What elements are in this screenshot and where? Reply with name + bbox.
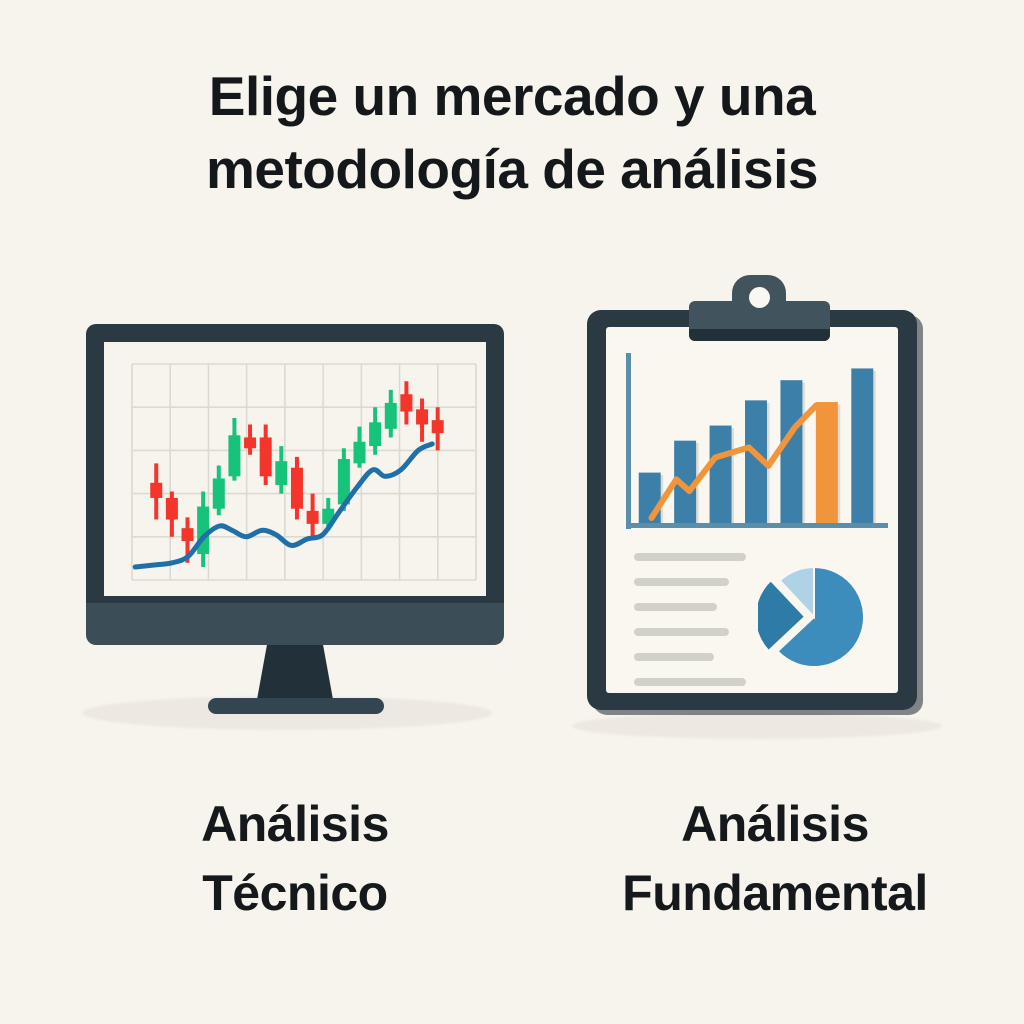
pie-chart xyxy=(758,553,878,673)
monitor-chin-bar xyxy=(86,603,504,645)
panel-technical-analysis[interactable] xyxy=(60,300,530,760)
paper-text-line xyxy=(634,603,717,611)
paper-text-line xyxy=(634,678,746,686)
clipboard-clamp-lip xyxy=(689,329,830,341)
clipboard-ground-shadow xyxy=(572,713,942,739)
paper-text-line xyxy=(634,628,729,636)
page-title-line-2: metodología de análisis xyxy=(110,133,914,206)
page-title-line-1: Elige un mercado y una xyxy=(110,60,914,133)
clipboard-paper[interactable] xyxy=(606,327,898,693)
panel-fundamental-analysis[interactable] xyxy=(560,265,980,760)
caption-technical-line-1: Análisis xyxy=(60,790,530,859)
chart-gridlines xyxy=(132,364,476,580)
caption-technical-line-2: Técnico xyxy=(60,859,530,928)
paper-text-line xyxy=(634,653,714,661)
page-title: Elige un mercado y una metodología de an… xyxy=(0,60,1024,206)
illustration-canvas: Elige un mercado y una metodología de an… xyxy=(0,0,1024,1024)
bar-series xyxy=(639,368,876,525)
monitor-stand-neck xyxy=(256,645,334,705)
bar-chart xyxy=(606,345,898,545)
candlestick-chart xyxy=(104,342,486,596)
monitor-stand-base xyxy=(208,698,384,714)
caption-fundamental-line-1: Análisis xyxy=(560,790,990,859)
paper-text-line xyxy=(634,553,746,561)
caption-technical-analysis: Análisis Técnico xyxy=(60,790,530,928)
caption-fundamental-line-2: Fundamental xyxy=(560,859,990,928)
clipboard-clamp-hole-icon xyxy=(749,287,770,308)
pie-slices xyxy=(758,567,864,667)
monitor-screen[interactable] xyxy=(104,342,486,596)
paper-text-line xyxy=(634,578,729,586)
caption-fundamental-analysis: Análisis Fundamental xyxy=(560,790,990,928)
